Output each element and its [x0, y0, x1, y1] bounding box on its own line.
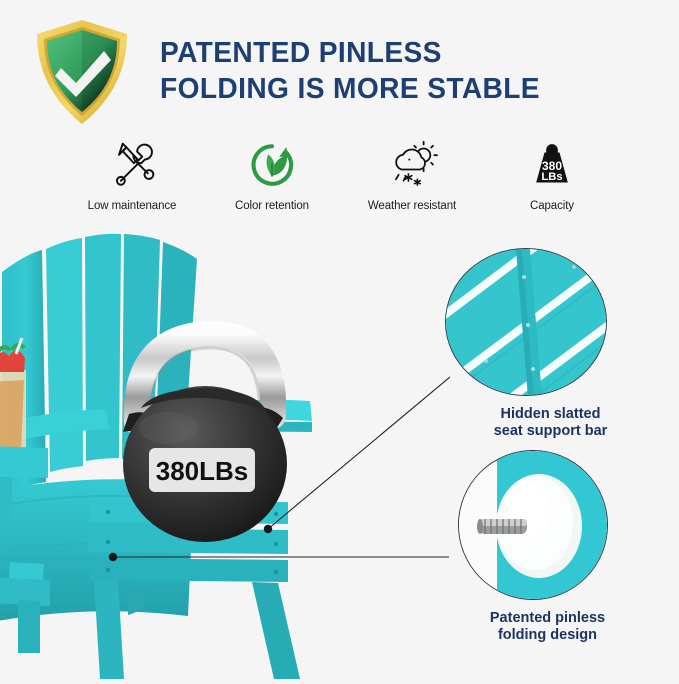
feature-icon-row: Low maintenance Color retention: [62, 138, 622, 226]
callout-image-slats: [445, 248, 607, 396]
tools-screwdriver-wrench-icon: [106, 138, 158, 192]
headline-line-2: FOLDING IS MORE STABLE: [160, 72, 645, 108]
header-banner: PATENTED PINLESS FOLDING IS MORE STABLE: [0, 0, 679, 135]
kettlebell-weight: 380LBs: [93, 304, 323, 554]
page-title: PATENTED PINLESS FOLDING IS MORE STABLE: [160, 36, 645, 107]
callout-hidden-slatted-seat-support-bar: Hidden slatted seat support bar: [443, 248, 658, 440]
product-photo-area: 380LBs: [0, 232, 679, 679]
infographic-page: PATENTED PINLESS FOLDING IS MORE STABLE: [0, 0, 679, 679]
caption-line-1: Hidden slatted: [443, 406, 658, 423]
callout-patented-pinless-folding-design: Patented pinless folding design: [440, 450, 655, 644]
kettlebell-label: 380LBs: [156, 456, 249, 486]
cloud-sun-rain-snow-icon: [385, 138, 439, 192]
feature-capacity: 380 LBs Capacity: [482, 138, 622, 212]
feature-label: Color retention: [235, 200, 309, 212]
feature-label: Weather resistant: [368, 200, 456, 212]
leaf-recycle-icon: [247, 138, 297, 192]
cocktail-glass-icon: [0, 338, 26, 454]
caption-line-2: seat support bar: [443, 423, 658, 440]
capacity-unit: LBs: [541, 171, 562, 183]
callout-image-pinless-bolt: [458, 450, 608, 600]
callout-caption: Patented pinless folding design: [440, 610, 655, 644]
feature-label: Low maintenance: [88, 200, 177, 212]
feature-label: Capacity: [530, 200, 574, 212]
caption-line-1: Patented pinless: [440, 610, 655, 627]
feature-low-maintenance: Low maintenance: [62, 138, 202, 212]
feature-color-retention: Color retention: [202, 138, 342, 212]
callout-caption: Hidden slatted seat support bar: [443, 406, 658, 440]
feature-weather-resistant: Weather resistant: [342, 138, 482, 212]
weight-capacity-icon: 380 LBs: [527, 138, 577, 192]
caption-line-2: folding design: [440, 627, 655, 644]
shield-check-icon: [32, 16, 132, 128]
headline-line-1: PATENTED PINLESS: [160, 37, 442, 69]
